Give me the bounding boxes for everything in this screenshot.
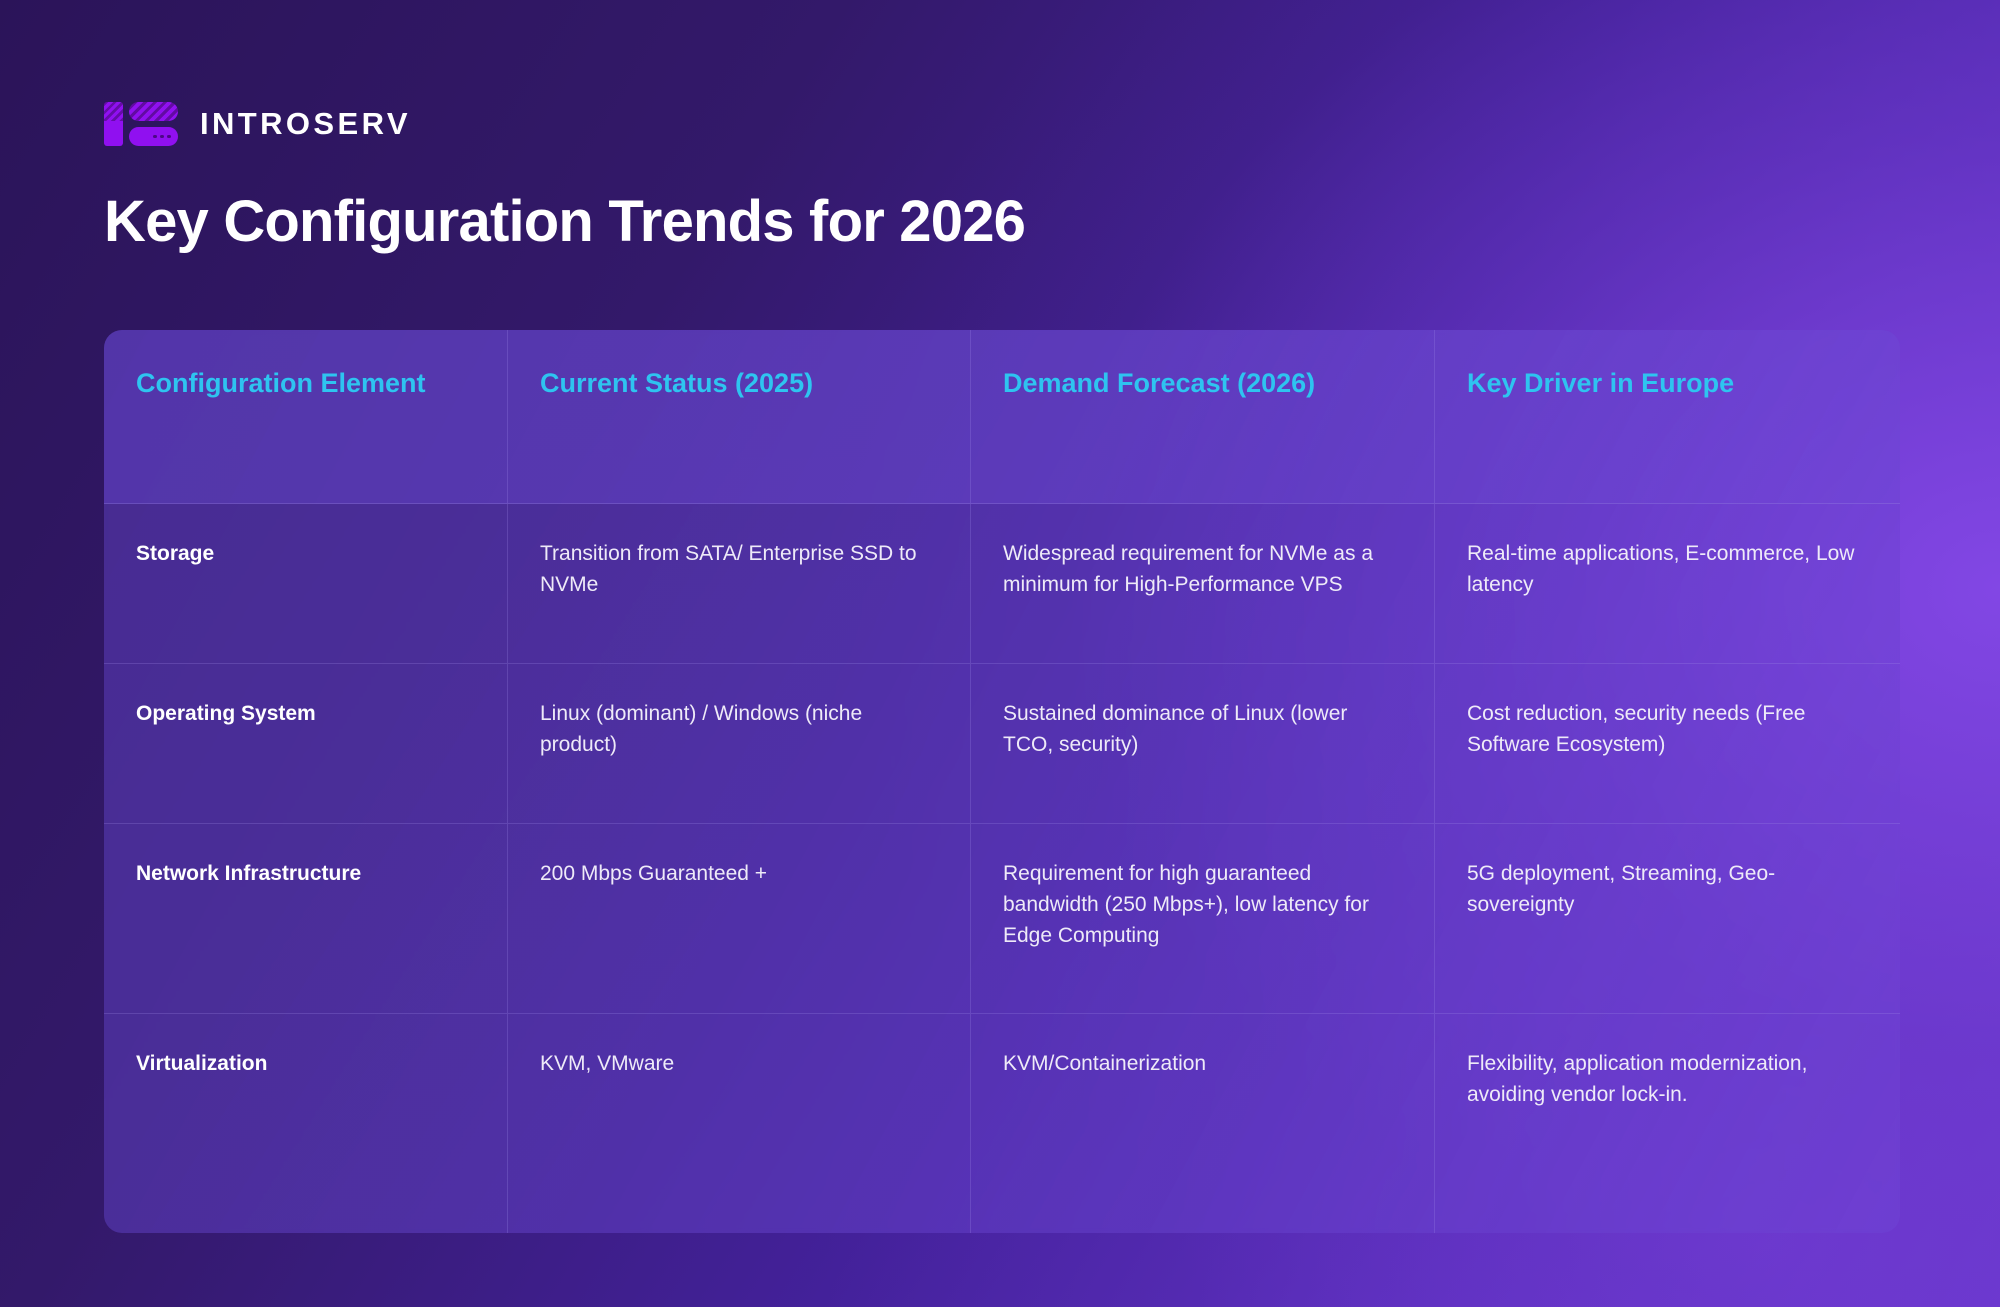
table-cell-key-driver: 5G deployment, Streaming, Geo-sovereignt… xyxy=(1435,824,1900,1013)
table-header-cell-current-status: Current Status (2025) xyxy=(508,330,971,503)
row-element-label: Virtualization xyxy=(136,1048,473,1080)
table-header-cell-configuration-element: Configuration Element xyxy=(104,330,508,503)
logo-dot xyxy=(153,135,157,139)
configuration-trends-table: Configuration Element Current Status (20… xyxy=(104,330,1900,1233)
cell-text: 200 Mbps Guaranteed + xyxy=(540,858,936,889)
table-header-cell-demand-forecast: Demand Forecast (2026) xyxy=(971,330,1435,503)
cell-text: Transition from SATA/ Enterprise SSD to … xyxy=(540,538,936,600)
brand-name: INTROSERV xyxy=(200,106,411,142)
table-header-cell-key-driver: Key Driver in Europe xyxy=(1435,330,1900,503)
table-row: Virtualization KVM, VMware KVM/Container… xyxy=(104,1014,1900,1233)
table-row: Storage Transition from SATA/ Enterprise… xyxy=(104,504,1900,664)
table-cell-element: Operating System xyxy=(104,664,508,823)
logo-dot xyxy=(160,135,164,139)
table-cell-demand-forecast: KVM/Containerization xyxy=(971,1014,1435,1233)
cell-text: Sustained dominance of Linux (lower TCO,… xyxy=(1003,698,1400,760)
cell-text: Real-time applications, E-commerce, Low … xyxy=(1467,538,1866,600)
table-cell-current-status: Linux (dominant) / Windows (niche produc… xyxy=(508,664,971,823)
row-element-label: Storage xyxy=(136,538,473,570)
logo-dot xyxy=(167,135,171,139)
table-cell-key-driver: Cost reduction, security needs (Free Sof… xyxy=(1435,664,1900,823)
table-cell-demand-forecast: Widespread requirement for NVMe as a min… xyxy=(971,504,1435,663)
table-cell-key-driver: Real-time applications, E-commerce, Low … xyxy=(1435,504,1900,663)
table-cell-key-driver: Flexibility, application modernization, … xyxy=(1435,1014,1900,1233)
row-element-label: Network Infrastructure xyxy=(136,858,473,890)
column-header-label: Configuration Element xyxy=(136,364,473,403)
cell-text: Flexibility, application modernization, … xyxy=(1467,1048,1866,1110)
table-cell-current-status: Transition from SATA/ Enterprise SSD to … xyxy=(508,504,971,663)
page-title: Key Configuration Trends for 2026 xyxy=(104,188,1025,255)
table-cell-demand-forecast: Sustained dominance of Linux (lower TCO,… xyxy=(971,664,1435,823)
cell-text: 5G deployment, Streaming, Geo-sovereignt… xyxy=(1467,858,1866,920)
table-cell-demand-forecast: Requirement for high guaranteed bandwidt… xyxy=(971,824,1435,1013)
table-cell-element: Network Infrastructure xyxy=(104,824,508,1013)
cell-text: KVM/Containerization xyxy=(1003,1048,1400,1079)
logo-top-bar xyxy=(129,102,178,121)
brand-logo[interactable]: INTROSERV xyxy=(104,102,411,146)
table-cell-element: Virtualization xyxy=(104,1014,508,1233)
cell-text: Requirement for high guaranteed bandwidt… xyxy=(1003,858,1400,951)
table-cell-element: Storage xyxy=(104,504,508,663)
cell-text: Linux (dominant) / Windows (niche produc… xyxy=(540,698,936,760)
server-stack-icon xyxy=(104,102,178,146)
column-header-label: Key Driver in Europe xyxy=(1467,364,1866,403)
table-cell-current-status: 200 Mbps Guaranteed + xyxy=(508,824,971,1013)
column-header-label: Demand Forecast (2026) xyxy=(1003,364,1400,403)
table-cell-current-status: KVM, VMware xyxy=(508,1014,971,1233)
table-header-row: Configuration Element Current Status (20… xyxy=(104,330,1900,504)
logo-left-bar xyxy=(104,102,123,146)
cell-text: KVM, VMware xyxy=(540,1048,936,1079)
row-element-label: Operating System xyxy=(136,698,473,730)
logo-bottom-bar xyxy=(129,127,178,146)
table-row: Network Infrastructure 200 Mbps Guarante… xyxy=(104,824,1900,1014)
cell-text: Cost reduction, security needs (Free Sof… xyxy=(1467,698,1866,760)
table-row: Operating System Linux (dominant) / Wind… xyxy=(104,664,1900,824)
column-header-label: Current Status (2025) xyxy=(540,364,936,403)
cell-text: Widespread requirement for NVMe as a min… xyxy=(1003,538,1400,600)
